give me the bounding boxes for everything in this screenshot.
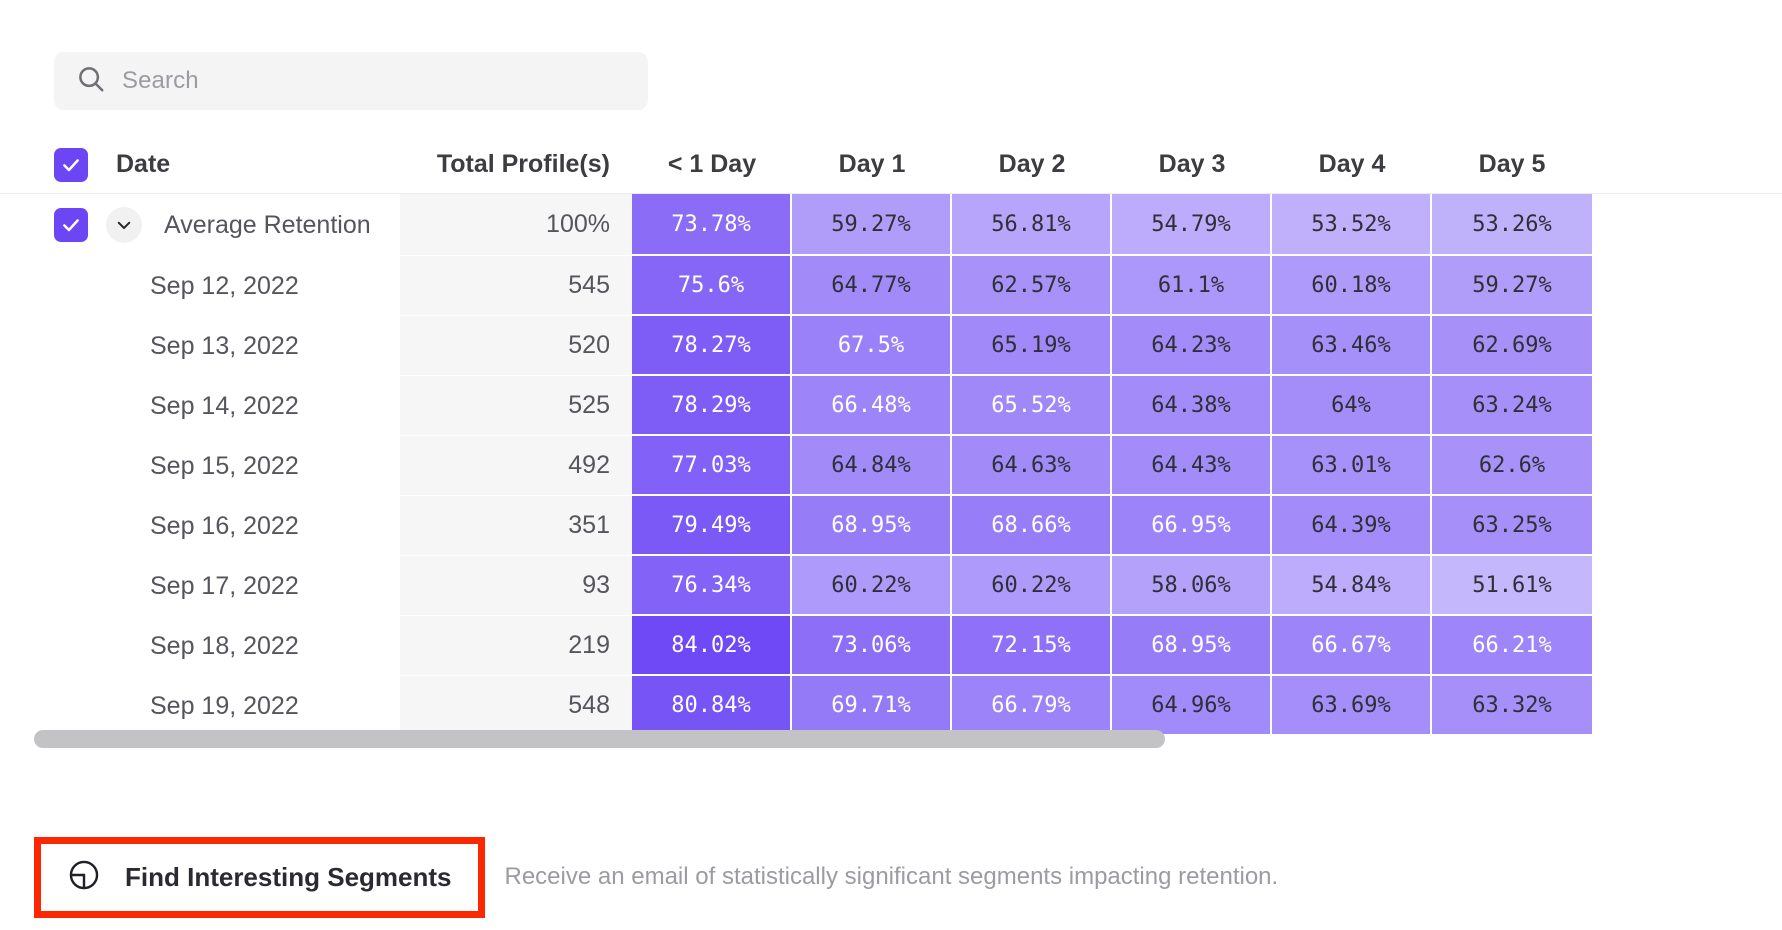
search-placeholder: Search <box>122 67 199 95</box>
retention-cell[interactable]: 78.27% <box>632 316 792 376</box>
retention-cell[interactable]: 64% <box>1272 376 1432 436</box>
header-col-day2: Day 2 <box>952 150 1112 179</box>
table-body-viewport: Average Retention100%73.78%59.27%56.81%5… <box>0 194 1782 734</box>
table-row[interactable]: Average Retention100%73.78%59.27%56.81%5… <box>0 194 1782 256</box>
retention-cell[interactable]: 78.29% <box>632 376 792 436</box>
row-date-cell: Sep 17, 2022 <box>54 556 400 616</box>
retention-cell[interactable]: 72.15% <box>952 616 1112 676</box>
row-checkbox[interactable] <box>54 208 88 242</box>
header-col-day4: Day 4 <box>1272 150 1432 179</box>
retention-cell[interactable]: 53.26% <box>1432 194 1592 256</box>
table-row[interactable]: Sep 16, 202235179.49%68.95%68.66%66.95%6… <box>0 496 1782 556</box>
retention-cell[interactable]: 65.19% <box>952 316 1112 376</box>
row-date-cell: Average Retention <box>54 194 400 256</box>
retention-cell[interactable]: 67.5% <box>792 316 952 376</box>
row-total-profiles: 351 <box>400 496 632 556</box>
row-date-label: Sep 14, 2022 <box>150 392 299 421</box>
retention-cell[interactable]: 63.24% <box>1432 376 1592 436</box>
row-date-cell: Sep 14, 2022 <box>54 376 400 436</box>
retention-cell[interactable]: 62.69% <box>1432 316 1592 376</box>
row-date-cell: Sep 19, 2022 <box>54 676 400 734</box>
retention-cell[interactable]: 64.96% <box>1112 676 1272 734</box>
retention-cell[interactable]: 51.61% <box>1432 556 1592 616</box>
retention-cell[interactable]: 64.63% <box>952 436 1112 496</box>
row-date-label: Sep 15, 2022 <box>150 452 299 481</box>
retention-cell[interactable]: 64.43% <box>1112 436 1272 496</box>
chevron-down-icon[interactable] <box>106 207 142 243</box>
retention-cell[interactable]: 53.52% <box>1272 194 1432 256</box>
row-total-profiles: 219 <box>400 616 632 676</box>
search-section: Search <box>0 0 1782 110</box>
find-segments-annotation: Find Interesting Segments <box>34 837 485 918</box>
search-icon <box>76 64 106 99</box>
retention-cell[interactable]: 60.18% <box>1272 256 1432 316</box>
find-interesting-segments-button[interactable]: Find Interesting Segments <box>41 844 478 911</box>
header-col-day1: Day 1 <box>792 150 952 179</box>
retention-cell[interactable]: 63.69% <box>1272 676 1432 734</box>
row-date-label: Sep 12, 2022 <box>150 272 299 301</box>
row-date-label: Average Retention <box>164 211 371 240</box>
header-col-lt1day: < 1 Day <box>632 150 792 179</box>
table-body: Average Retention100%73.78%59.27%56.81%5… <box>0 194 1782 734</box>
retention-cell[interactable]: 68.66% <box>952 496 1112 556</box>
retention-cell[interactable]: 59.27% <box>792 194 952 256</box>
header-col-day3: Day 3 <box>1112 150 1272 179</box>
row-date-cell: Sep 12, 2022 <box>54 256 400 316</box>
header-date: Date <box>54 148 400 182</box>
retention-cell[interactable]: 80.84% <box>632 676 792 734</box>
retention-cell[interactable]: 66.21% <box>1432 616 1592 676</box>
table-row[interactable]: Sep 17, 20229376.34%60.22%60.22%58.06%54… <box>0 556 1782 616</box>
retention-cell[interactable]: 61.1% <box>1112 256 1272 316</box>
retention-cell[interactable]: 66.48% <box>792 376 952 436</box>
table-row[interactable]: Sep 19, 202254880.84%69.71%66.79%64.96%6… <box>0 676 1782 734</box>
retention-table-screen: Search Date Total Profile(s) < 1 Day Day… <box>0 0 1782 930</box>
retention-cell[interactable]: 76.34% <box>632 556 792 616</box>
retention-cell[interactable]: 66.67% <box>1272 616 1432 676</box>
retention-cell[interactable]: 64.84% <box>792 436 952 496</box>
retention-cell[interactable]: 69.71% <box>792 676 952 734</box>
row-total-profiles: 548 <box>400 676 632 734</box>
row-total-profiles: 100% <box>400 194 632 256</box>
retention-cell[interactable]: 64.38% <box>1112 376 1272 436</box>
retention-cell[interactable]: 63.01% <box>1272 436 1432 496</box>
retention-cell[interactable]: 84.02% <box>632 616 792 676</box>
retention-cell[interactable]: 63.25% <box>1432 496 1592 556</box>
retention-cell[interactable]: 62.6% <box>1432 436 1592 496</box>
row-total-profiles: 520 <box>400 316 632 376</box>
find-segments-description: Receive an email of statistically signif… <box>505 863 1279 891</box>
retention-table: Date Total Profile(s) < 1 Day Day 1 Day … <box>0 136 1782 734</box>
row-date-label: Sep 18, 2022 <box>150 632 299 661</box>
retention-cell[interactable]: 62.57% <box>952 256 1112 316</box>
select-all-checkbox[interactable] <box>54 148 88 182</box>
find-segments-label: Find Interesting Segments <box>125 862 452 893</box>
retention-cell[interactable]: 75.6% <box>632 256 792 316</box>
scrollbar-thumb[interactable] <box>34 730 1165 748</box>
row-date-label: Sep 16, 2022 <box>150 512 299 541</box>
retention-cell[interactable]: 65.52% <box>952 376 1112 436</box>
row-date-label: Sep 19, 2022 <box>150 692 299 721</box>
footer-bar: Find Interesting Segments Receive an ema… <box>0 824 1782 930</box>
retention-cell[interactable]: 64.77% <box>792 256 952 316</box>
header-total-profiles: Total Profile(s) <box>400 150 632 179</box>
retention-cell[interactable]: 58.06% <box>1112 556 1272 616</box>
table-header-row: Date Total Profile(s) < 1 Day Day 1 Day … <box>0 136 1782 194</box>
header-col-day5: Day 5 <box>1432 150 1592 179</box>
horizontal-scrollbar[interactable] <box>34 730 1774 748</box>
row-total-profiles: 545 <box>400 256 632 316</box>
row-total-profiles: 525 <box>400 376 632 436</box>
retention-cell[interactable]: 64.39% <box>1272 496 1432 556</box>
table-row[interactable]: Sep 12, 202254575.6%64.77%62.57%61.1%60.… <box>0 256 1782 316</box>
retention-cell[interactable]: 64.23% <box>1112 316 1272 376</box>
segment-pie-icon <box>67 858 101 897</box>
retention-cell[interactable]: 66.95% <box>1112 496 1272 556</box>
row-date-label: Sep 13, 2022 <box>150 332 299 361</box>
retention-cell[interactable]: 77.03% <box>632 436 792 496</box>
retention-cell[interactable]: 56.81% <box>952 194 1112 256</box>
retention-cell[interactable]: 73.78% <box>632 194 792 256</box>
table-row[interactable]: Sep 18, 202221984.02%73.06%72.15%68.95%6… <box>0 616 1782 676</box>
header-date-label: Date <box>116 150 170 179</box>
retention-cell[interactable]: 73.06% <box>792 616 952 676</box>
retention-cell[interactable]: 68.95% <box>1112 616 1272 676</box>
table-row[interactable]: Sep 14, 202252578.29%66.48%65.52%64.38%6… <box>0 376 1782 436</box>
row-date-cell: Sep 13, 2022 <box>54 316 400 376</box>
row-date-cell: Sep 15, 2022 <box>54 436 400 496</box>
retention-cell[interactable]: 60.22% <box>792 556 952 616</box>
table-row[interactable]: Sep 15, 202249277.03%64.84%64.63%64.43%6… <box>0 436 1782 496</box>
row-date-cell: Sep 16, 2022 <box>54 496 400 556</box>
retention-cell[interactable]: 68.95% <box>792 496 952 556</box>
table-row[interactable]: Sep 13, 202252078.27%67.5%65.19%64.23%63… <box>0 316 1782 376</box>
row-date-cell: Sep 18, 2022 <box>54 616 400 676</box>
retention-cell[interactable]: 79.49% <box>632 496 792 556</box>
row-total-profiles: 492 <box>400 436 632 496</box>
search-input[interactable]: Search <box>54 52 648 110</box>
retention-cell[interactable]: 59.27% <box>1432 256 1592 316</box>
retention-cell[interactable]: 54.79% <box>1112 194 1272 256</box>
row-total-profiles: 93 <box>400 556 632 616</box>
retention-cell[interactable]: 63.46% <box>1272 316 1432 376</box>
retention-cell[interactable]: 54.84% <box>1272 556 1432 616</box>
retention-cell[interactable]: 63.32% <box>1432 676 1592 734</box>
retention-cell[interactable]: 60.22% <box>952 556 1112 616</box>
row-date-label: Sep 17, 2022 <box>150 572 299 601</box>
retention-cell[interactable]: 66.79% <box>952 676 1112 734</box>
